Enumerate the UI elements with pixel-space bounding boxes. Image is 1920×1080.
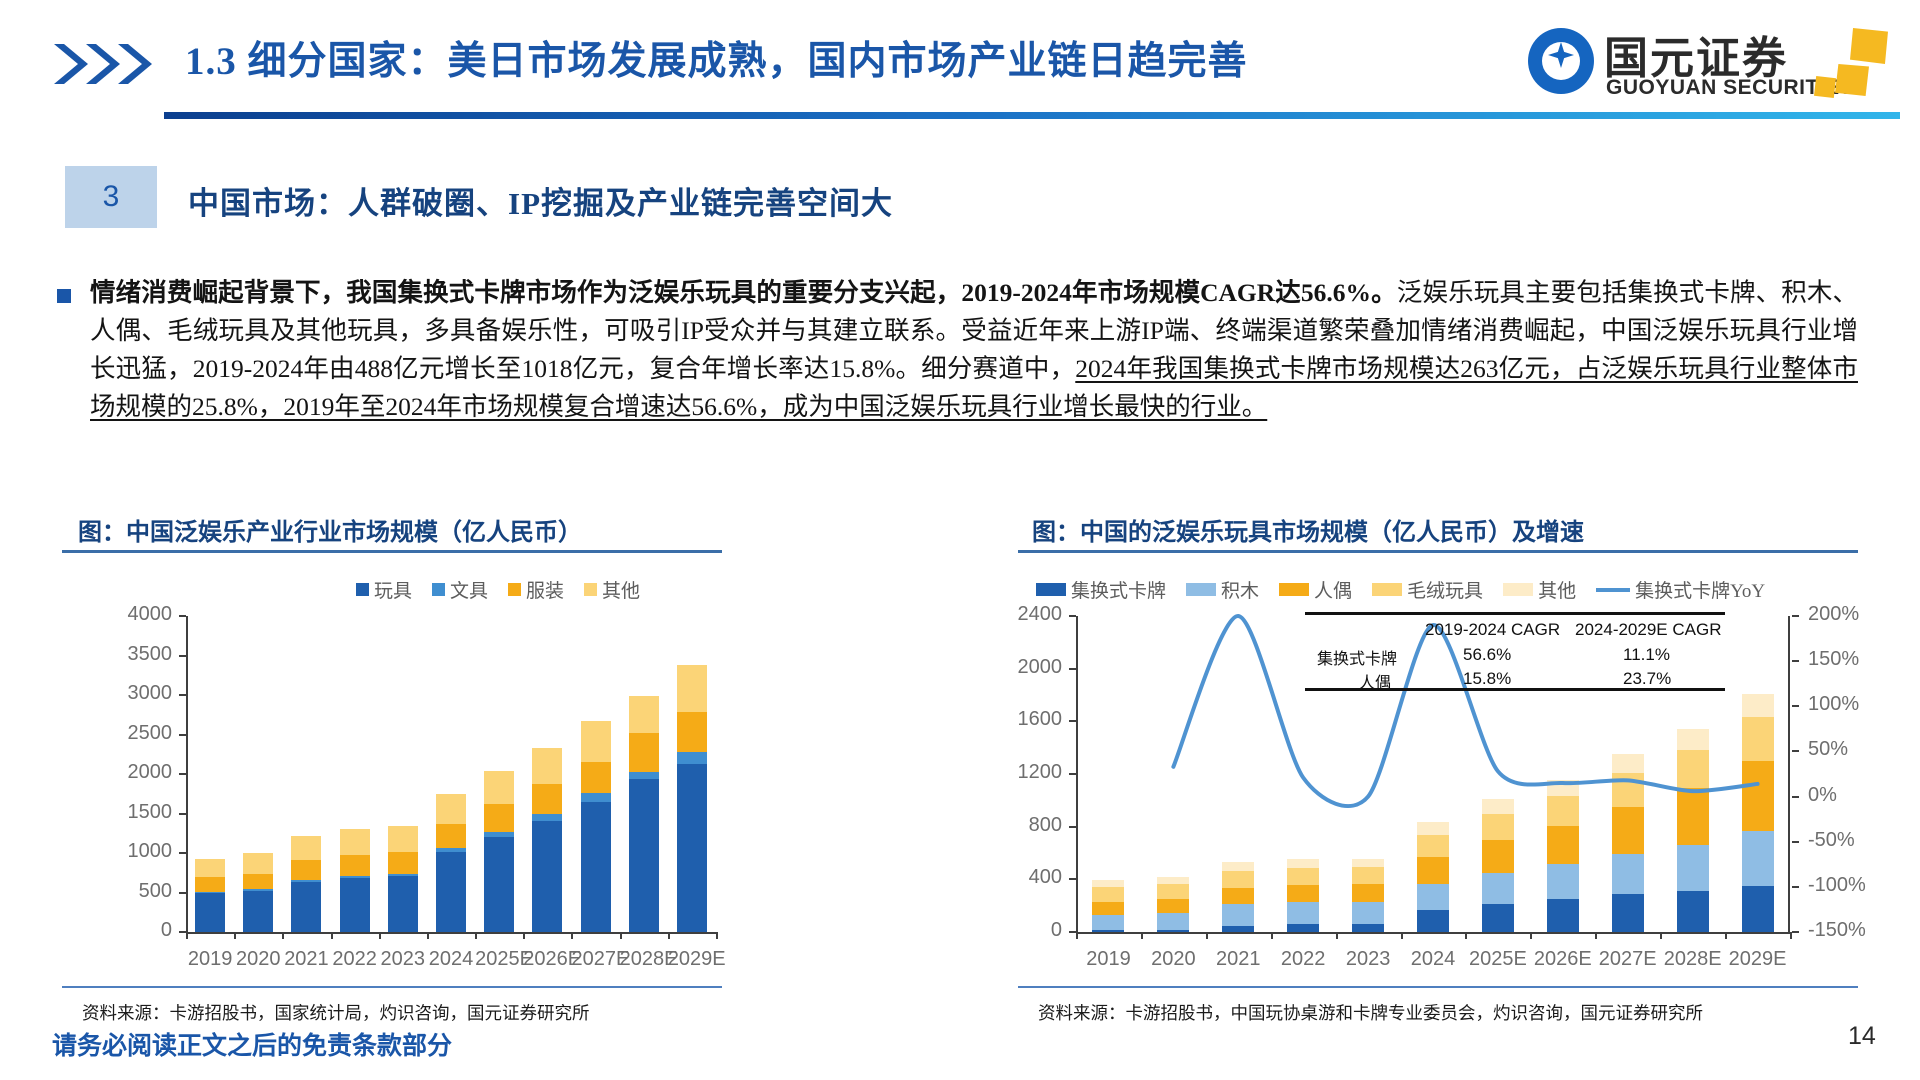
- bar-segment: [243, 853, 273, 874]
- right-source-divider: [1018, 986, 1858, 988]
- y2-axis-label: 50%: [1808, 738, 1848, 761]
- body-paragraph: 情绪消费崛起背景下，我国集换式卡牌市场作为泛娱乐玩具的重要分支兴起，2019-2…: [90, 274, 1858, 426]
- x-axis-tick: [282, 932, 284, 939]
- y-axis-label: 2400: [992, 603, 1062, 626]
- bar-segment: [484, 804, 514, 832]
- x-axis-label: 2027E: [571, 948, 619, 971]
- legend-swatch-icon: [584, 583, 597, 596]
- x-axis-label: 2023: [379, 948, 427, 971]
- y-axis-tick: [179, 931, 186, 933]
- y2-axis-label: 0%: [1808, 784, 1837, 807]
- legend-label: 积木: [1221, 576, 1259, 603]
- x-axis-tick: [620, 932, 622, 939]
- bar-segment: [436, 848, 466, 852]
- header-divider: [164, 112, 1900, 119]
- left-source-note: 资料来源：卡游招股书，国家统计局，灼识咨询，国元证券研究所: [82, 1000, 590, 1025]
- left-chart-title: 图：中国泛娱乐产业行业市场规模（亿人民币）: [78, 512, 582, 547]
- y-axis-label: 1200: [992, 761, 1062, 784]
- legend-label: 服装: [526, 576, 564, 603]
- legend-label: 其他: [1538, 576, 1576, 603]
- y-axis-label: 2000: [102, 761, 172, 784]
- legend-label: 文具: [450, 576, 488, 603]
- bar-segment: [532, 784, 562, 814]
- y-axis-tick: [1069, 615, 1076, 617]
- bar-segment: [629, 772, 659, 778]
- logo-star-icon-3: [1814, 76, 1836, 98]
- y2-axis-label: 100%: [1808, 693, 1859, 716]
- y-axis-tick: [1069, 773, 1076, 775]
- legend-label: 毛绒玩具: [1407, 576, 1483, 603]
- y2-axis-label: -150%: [1808, 919, 1866, 942]
- y-axis-tick: [179, 655, 186, 657]
- legend-label: 人偶: [1314, 576, 1352, 603]
- left-x-axis: [186, 932, 716, 934]
- bar-segment: [388, 876, 418, 932]
- bar-segment: [581, 721, 611, 761]
- y2-axis-label: -100%: [1808, 874, 1866, 897]
- logo-star-icon-2: [1835, 64, 1869, 96]
- cagr-col-header-1: 2019-2024 CAGR: [1425, 620, 1560, 640]
- y-axis-label: 1600: [992, 708, 1062, 731]
- x-axis-label: 2029E: [1725, 948, 1790, 971]
- left-y-axis: [186, 616, 188, 934]
- x-axis-label: 2026E: [1530, 948, 1595, 971]
- legend-line-icon: [1596, 588, 1630, 592]
- x-axis-tick: [186, 932, 188, 939]
- bar-segment: [436, 794, 466, 824]
- legend-swatch-icon: [432, 583, 445, 596]
- bar-segment: [581, 793, 611, 802]
- x-axis-label: 2023: [1336, 948, 1401, 971]
- page-title: 1.3 细分国家：美日市场发展成熟，国内市场产业链日趋完善: [185, 30, 1248, 86]
- x-axis-label: 2025E: [1465, 948, 1530, 971]
- paragraph-lead: 情绪消费崛起背景下，我国集换式卡牌市场作为泛娱乐玩具的重要分支兴起，2019-2…: [90, 278, 1397, 307]
- legend-item-yoy-line: 集换式卡牌YoY: [1596, 576, 1765, 603]
- bar-segment: [388, 826, 418, 852]
- section-number: 3: [65, 166, 157, 228]
- y-axis-label: 3000: [102, 682, 172, 705]
- x-axis-label: 2019: [1076, 948, 1141, 971]
- left-title-divider: [62, 550, 722, 553]
- bar-segment: [195, 893, 225, 932]
- bar-segment: [629, 696, 659, 733]
- x-axis-label: 2022: [331, 948, 379, 971]
- guoyuan-logo: 国元证券 GUOYUAN SECURITIES: [1528, 22, 1898, 108]
- legend-item-plush: 毛绒玩具: [1372, 576, 1483, 603]
- y-axis-label: 500: [102, 880, 172, 903]
- legend-swatch-icon: [1372, 583, 1402, 596]
- x-axis-tick: [331, 932, 333, 939]
- x-axis-tick: [427, 932, 429, 939]
- x-axis-label: 2024: [427, 948, 475, 971]
- bar-segment: [484, 837, 514, 932]
- bar-segment: [532, 821, 562, 932]
- y-axis-label: 400: [992, 866, 1062, 889]
- bar-segment: [291, 860, 321, 881]
- x-axis-label: 2021: [1206, 948, 1271, 971]
- cagr-col-header-2: 2024-2029E CAGR: [1575, 620, 1721, 640]
- legend-label: 其他: [602, 576, 640, 603]
- cagr-value: 15.8%: [1463, 669, 1511, 689]
- legend-item-stationery: 文具: [432, 576, 488, 603]
- legend-item-apparel: 服装: [508, 576, 564, 603]
- y-axis-label: 0: [102, 919, 172, 942]
- y-axis-tick: [179, 852, 186, 854]
- section-title: 中国市场：人群破圈、IP挖掘及产业链完善空间大: [188, 178, 893, 223]
- bar-segment: [243, 891, 273, 932]
- y-axis-tick: [1069, 878, 1076, 880]
- x-axis-tick: [234, 932, 236, 939]
- right-chart-title: 图：中国的泛娱乐玩具市场规模（亿人民币）及增速: [1032, 512, 1584, 547]
- y-axis-tick: [179, 734, 186, 736]
- cagr-row-label: 集换式卡牌: [1317, 645, 1397, 669]
- cagr-table-top-rule: [1305, 612, 1725, 615]
- cagr-value: 11.1%: [1623, 645, 1670, 665]
- x-axis-tick: [668, 932, 670, 939]
- bar-segment: [677, 752, 707, 764]
- bullet-square-icon: [57, 289, 71, 303]
- bar-segment: [291, 882, 321, 932]
- y-axis-label: 2000: [992, 656, 1062, 679]
- bar-segment: [195, 877, 225, 892]
- legend-label: 玩具: [374, 576, 412, 603]
- x-axis-tick: [571, 932, 573, 939]
- legend-swatch-icon: [1279, 583, 1309, 596]
- cagr-value: 56.6%: [1463, 645, 1511, 665]
- x-axis-label: 2026E: [523, 948, 571, 971]
- bar-segment: [484, 771, 514, 804]
- x-axis-label: 2027E: [1595, 948, 1660, 971]
- legend-swatch-icon: [1186, 583, 1216, 596]
- y-axis-tick: [179, 694, 186, 696]
- right-title-divider: [1018, 550, 1858, 553]
- right-source-note: 资料来源：卡游招股书，中国玩协桌游和卡牌专业委员会，灼识咨询，国元证券研究所: [1038, 1000, 1703, 1025]
- cagr-row-label: 人偶: [1359, 669, 1391, 693]
- footer-disclaimer: 请务必阅读正文之后的免责条款部分: [52, 1026, 452, 1062]
- x-axis-tick: [523, 932, 525, 939]
- page-header: 1.3 细分国家：美日市场发展成熟，国内市场产业链日趋完善 国元证券 GUOYU…: [0, 0, 1920, 132]
- y2-axis-label: 200%: [1808, 603, 1859, 626]
- y-axis-tick: [1069, 720, 1076, 722]
- x-axis-label: 2020: [1141, 948, 1206, 971]
- bar-segment: [436, 852, 466, 932]
- left-chart-plot: 0500100015002000250030003500400020192020…: [186, 616, 716, 934]
- left-source-divider: [62, 986, 722, 988]
- bar-segment: [291, 880, 321, 882]
- legend-item-blocks: 积木: [1186, 576, 1259, 603]
- bar-segment: [291, 836, 321, 860]
- bar-segment: [677, 764, 707, 932]
- legend-item-toys: 玩具: [356, 576, 412, 603]
- legend-item-other: 其他: [1503, 576, 1576, 603]
- page-number: 14: [1848, 1022, 1876, 1051]
- y-axis-label: 800: [992, 814, 1062, 837]
- bar-segment: [532, 814, 562, 821]
- bar-segment: [484, 832, 514, 837]
- legend-item-tcg: 集换式卡牌: [1036, 576, 1166, 603]
- cagr-value: 23.7%: [1623, 669, 1671, 689]
- bar-segment: [340, 878, 370, 932]
- bar-segment: [195, 859, 225, 877]
- x-axis-label: 2021: [282, 948, 330, 971]
- y-axis-tick: [179, 773, 186, 775]
- cagr-table: 2019-2024 CAGR 2024-2029E CAGR 集换式卡牌 56.…: [1305, 612, 1725, 690]
- bar-segment: [436, 824, 466, 848]
- x-axis-label: 2029E: [668, 948, 716, 971]
- x-axis-label: 2022: [1271, 948, 1336, 971]
- x-axis-label: 2019: [186, 948, 234, 971]
- bar-segment: [581, 762, 611, 794]
- y-axis-label: 3500: [102, 643, 172, 666]
- x-axis-label: 2020: [234, 948, 282, 971]
- y-axis-tick: [179, 892, 186, 894]
- legend-label: 集换式卡牌: [1071, 576, 1166, 603]
- bar-segment: [243, 874, 273, 888]
- legend-swatch-icon: [1503, 583, 1533, 596]
- y-axis-tick: [1069, 931, 1076, 933]
- y-axis-tick: [179, 813, 186, 815]
- x-axis-tick: [475, 932, 477, 939]
- x-axis-label: 2025E: [475, 948, 523, 971]
- bar-segment: [243, 889, 273, 891]
- legend-item-other: 其他: [584, 576, 640, 603]
- bar-segment: [629, 779, 659, 932]
- bar-segment: [677, 665, 707, 712]
- left-chart-legend: 玩具 文具 服装 其他: [356, 576, 654, 603]
- legend-swatch-icon: [508, 583, 521, 596]
- x-axis-label: 2024: [1401, 948, 1466, 971]
- bar-segment: [677, 712, 707, 752]
- legend-label: 集换式卡牌YoY: [1635, 576, 1765, 603]
- y-axis-label: 4000: [102, 603, 172, 626]
- bar-segment: [340, 829, 370, 855]
- y2-axis-label: -50%: [1808, 829, 1855, 852]
- bar-segment: [340, 855, 370, 877]
- y-axis-tick: [179, 615, 186, 617]
- x-axis-tick: [379, 932, 381, 939]
- x-axis-label: 2028E: [620, 948, 668, 971]
- y-axis-label: 1500: [102, 801, 172, 824]
- y-axis-label: 1000: [102, 840, 172, 863]
- chevron-decoration-icon: [52, 40, 172, 88]
- logo-star-icon-1: [1850, 28, 1888, 64]
- x-axis-tick: [716, 932, 718, 939]
- bar-segment: [388, 852, 418, 874]
- y-axis-label: 2500: [102, 722, 172, 745]
- bar-segment: [629, 733, 659, 773]
- legend-item-figures: 人偶: [1279, 576, 1352, 603]
- y-axis-label: 0: [992, 919, 1062, 942]
- legend-swatch-icon: [1036, 583, 1066, 596]
- y2-axis-label: 150%: [1808, 648, 1859, 671]
- bar-segment: [340, 876, 370, 878]
- bar-segment: [388, 874, 418, 876]
- right-chart-legend: 集换式卡牌 积木 人偶 毛绒玩具 其他 集换式卡牌YoY: [1036, 576, 1779, 603]
- bar-segment: [581, 802, 611, 932]
- y-axis-tick: [1069, 668, 1076, 670]
- y-axis-tick: [1069, 826, 1076, 828]
- x-axis-label: 2028E: [1660, 948, 1725, 971]
- bar-segment: [195, 892, 225, 893]
- legend-swatch-icon: [356, 583, 369, 596]
- bar-segment: [532, 748, 562, 784]
